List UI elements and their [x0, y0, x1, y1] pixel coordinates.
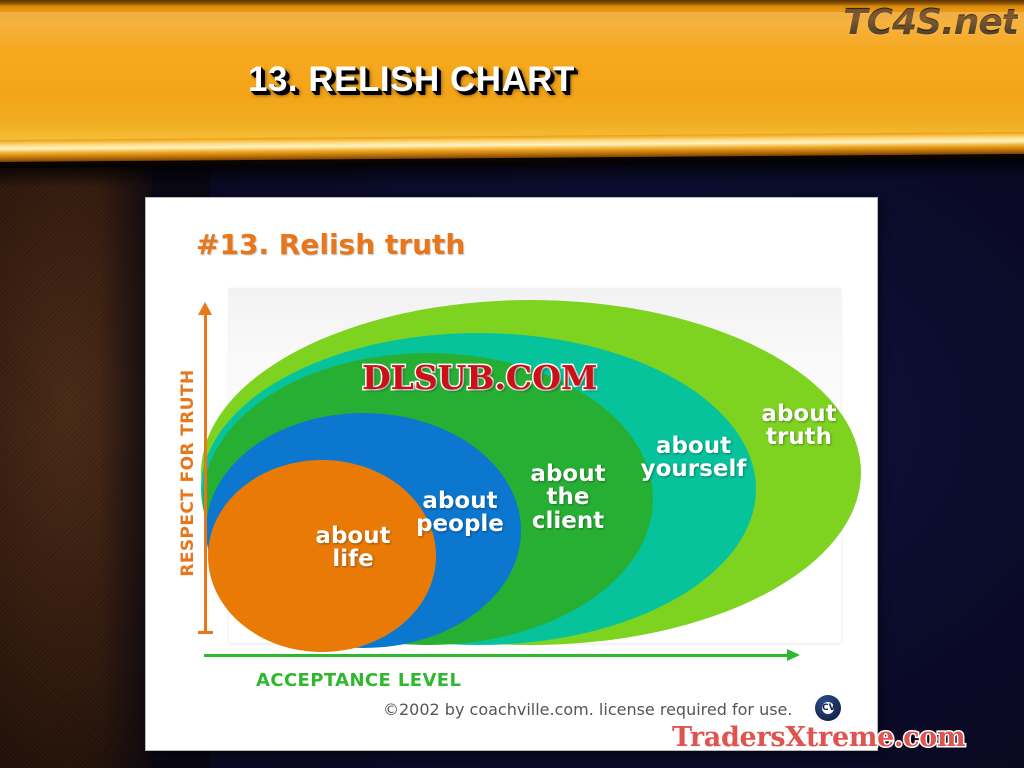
dlsub-watermark: DLSUB.COM — [362, 358, 597, 397]
y-axis-line — [204, 308, 207, 633]
label-about-yourself: about yourself — [631, 435, 756, 482]
tc4s-watermark: TC4S.net — [843, 2, 1018, 43]
chart-title: #13. Relish truth — [196, 228, 465, 261]
x-axis-line — [204, 654, 789, 657]
x-axis-label: ACCEPTANCE LEVEL — [256, 670, 461, 691]
label-about-life: about life — [298, 525, 408, 572]
label-about-the-client: about the client — [518, 463, 618, 533]
y-axis-base-tick — [198, 631, 213, 634]
page-title: 13. RELISH CHART — [248, 60, 575, 100]
x-axis-arrow-icon — [787, 649, 800, 661]
y-axis-label: RESPECT FOR TRUTH — [178, 368, 198, 578]
copyright-notice: ©2002 by coachville.com. license require… — [383, 700, 792, 719]
label-about-truth: about truth — [744, 403, 854, 450]
tradersxtreme-watermark: TradersXtreme.com — [672, 722, 965, 753]
label-about-people: about people — [404, 490, 516, 537]
coachville-logo-glyph: CV — [822, 702, 834, 714]
coachville-logo-icon: CV — [815, 695, 841, 721]
content-panel: #13. Relish truth about truth about your… — [146, 198, 877, 750]
slide-canvas: 13. RELISH CHART TC4S.net #13. Relish tr… — [0, 0, 1024, 768]
